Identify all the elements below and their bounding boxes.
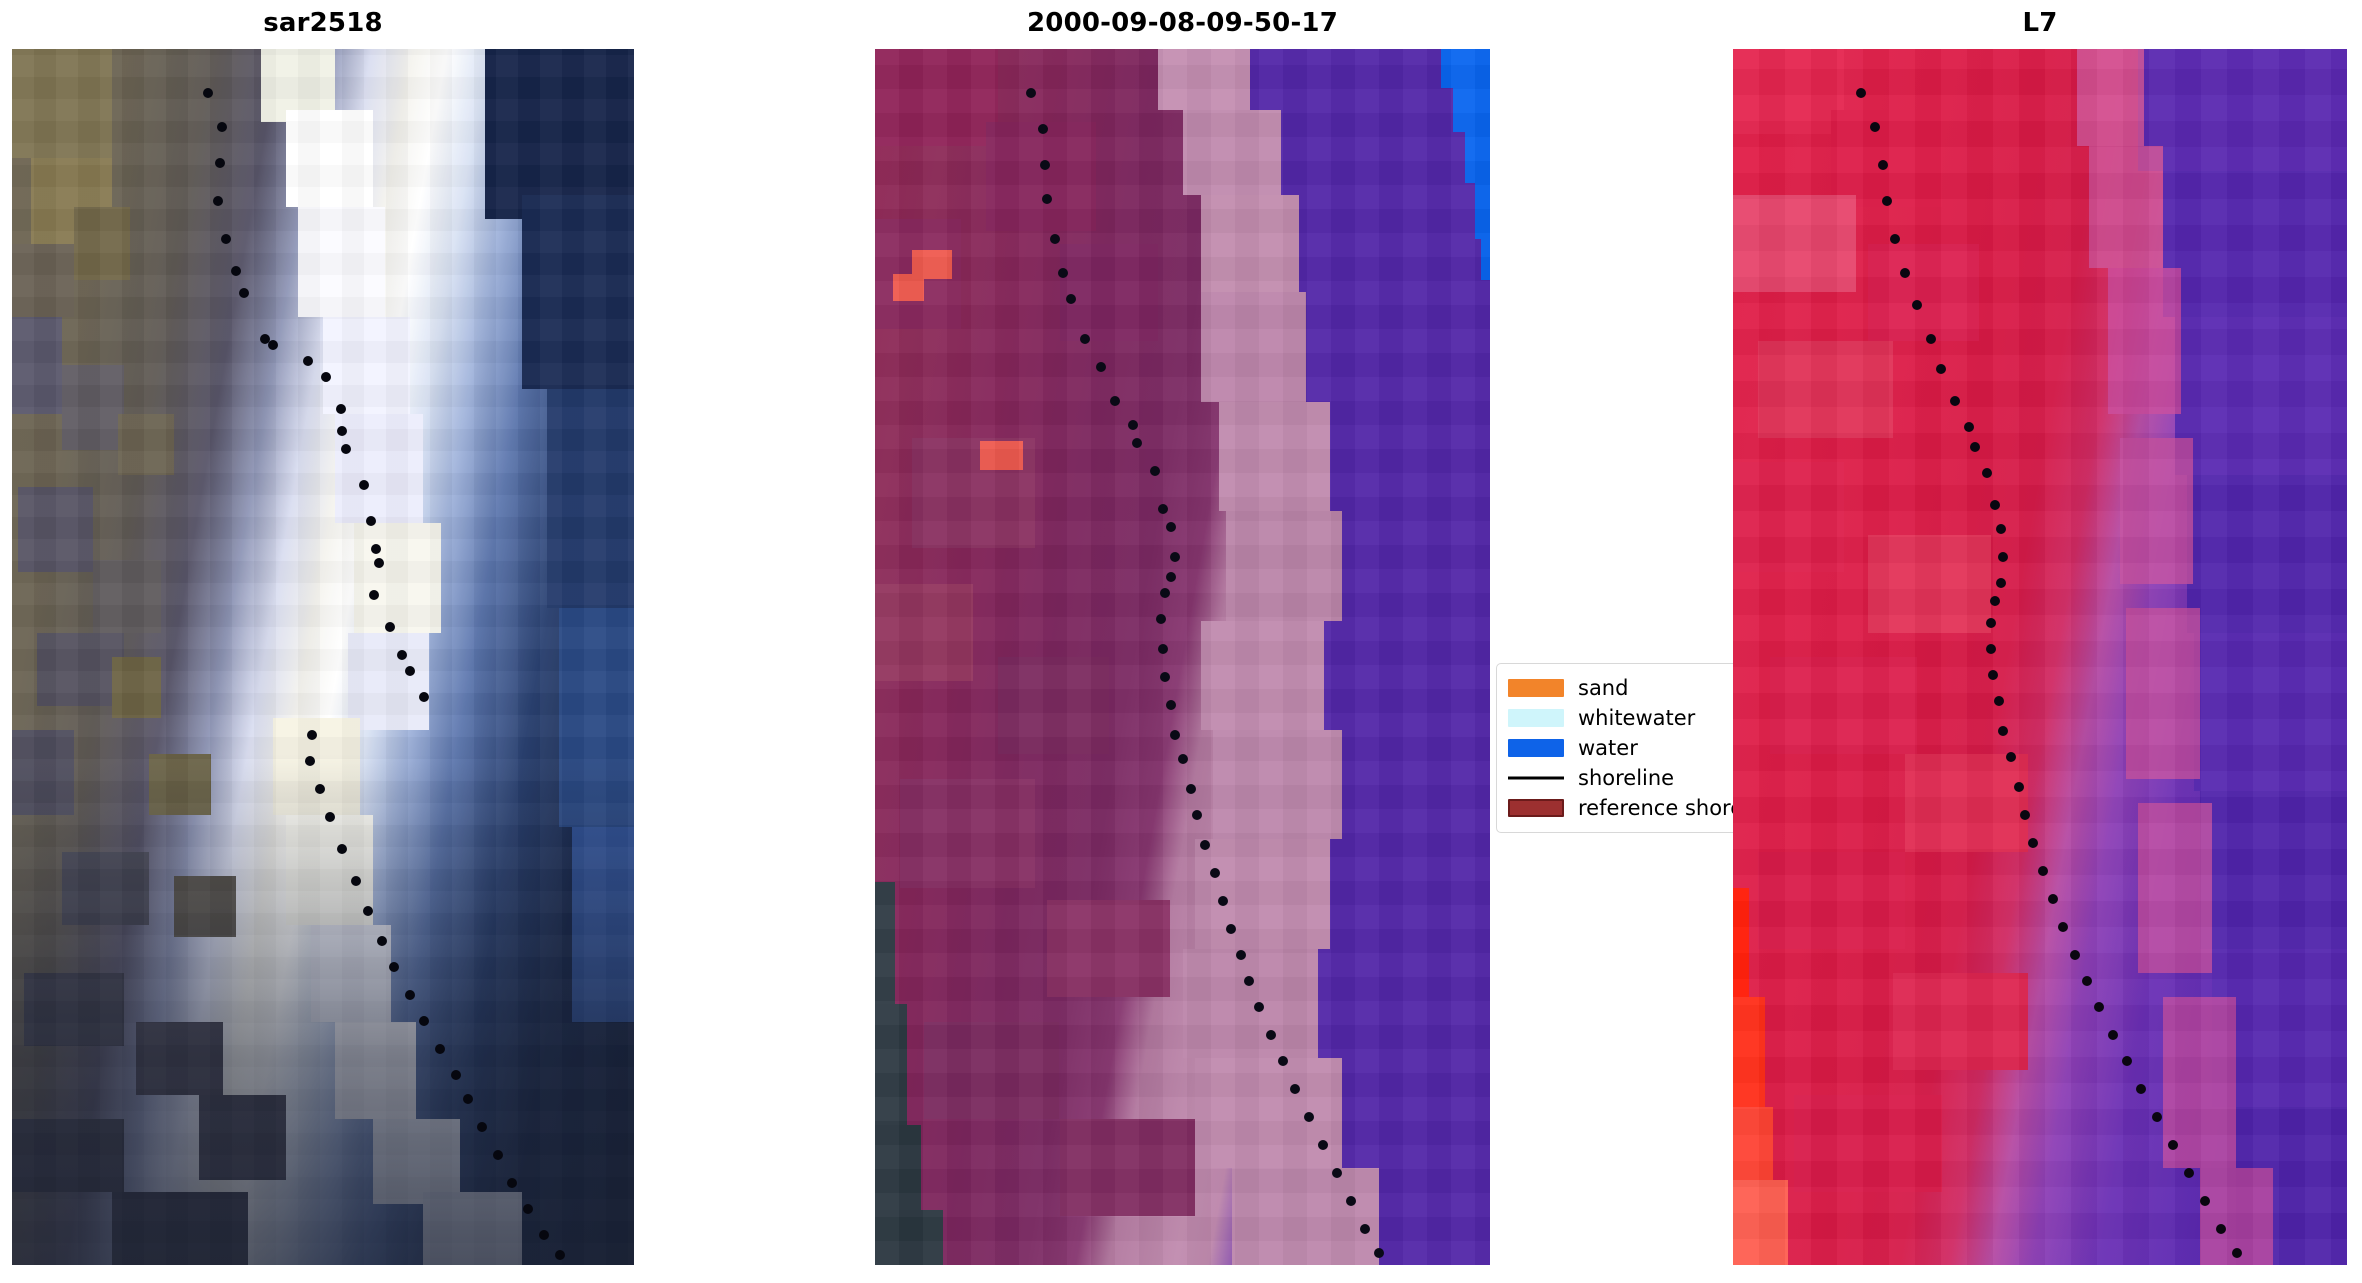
panel-title-l7: L7 [1733, 8, 2347, 38]
panel-title-classification: 2000-09-08-09-50-17 [875, 8, 1490, 38]
reference-shoreline-swatch-icon [1508, 799, 1564, 817]
legend-label-shoreline: shoreline [1578, 766, 1674, 790]
legend-label-whitewater: whitewater [1578, 706, 1695, 730]
whitewater-swatch-icon [1508, 709, 1564, 727]
panel-image-sar[interactable] [12, 49, 634, 1265]
panel-image-classification[interactable] [875, 49, 1490, 1265]
legend-label-sand: sand [1578, 676, 1628, 700]
sar-shadow-overlay [12, 754, 634, 1265]
shoreline-line-icon [1508, 769, 1564, 787]
panel-image-l7[interactable] [1733, 49, 2347, 1265]
figure-canvas: sar2518 2000-09-08-09-50-17 L7 [0, 0, 2362, 1283]
legend-label-water: water [1578, 736, 1638, 760]
classification-texture-overlay [875, 49, 1490, 1265]
sand-swatch-icon [1508, 679, 1564, 697]
panel-title-sar: sar2518 [12, 8, 634, 38]
water-swatch-icon [1508, 739, 1564, 757]
l7-texture-overlay [1733, 49, 2347, 1265]
